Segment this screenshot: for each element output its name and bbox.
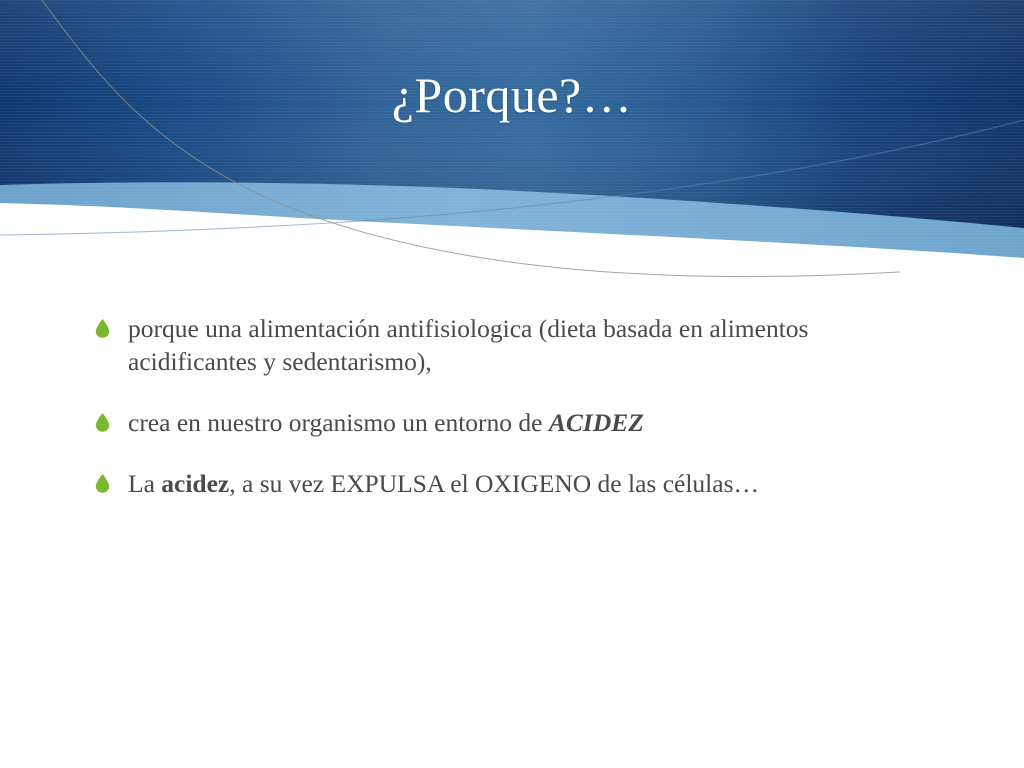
bullet-text-2-lead: crea en nuestro organismo un entorno de — [128, 408, 549, 437]
green-droplet-bullet-icon — [95, 474, 110, 493]
bullet-text-2: crea en nuestro organismo un entorno de … — [128, 406, 922, 439]
header-decoration — [0, 0, 1024, 300]
light-blue-accent-band — [0, 0, 1024, 258]
bullet-text-3-lead: La — [128, 469, 161, 498]
bullet-text-3-tail: , a su vez EXPULSA el OXIGENO de las cél… — [229, 469, 759, 498]
bullet-text-2-emphasis: ACIDEZ — [549, 408, 644, 437]
bullet-text-3-emphasis: acidez — [161, 469, 229, 498]
bullet-item-2: crea en nuestro organismo un entorno de … — [92, 406, 922, 439]
thin-sweep-arc — [42, 0, 900, 277]
green-droplet-bullet-icon — [95, 413, 110, 432]
bullet-item-1: porque una alimentación antifisiologica … — [92, 312, 922, 378]
presentation-slide: ¿Porque?… porque una alimentación antifi… — [0, 0, 1024, 768]
bullet-item-3: La acidez, a su vez EXPULSA el OXIGENO d… — [92, 467, 922, 500]
scanline-texture — [0, 0, 1024, 300]
green-droplet-bullet-icon — [95, 319, 110, 338]
thin-diagonal-highlight-line — [0, 120, 1024, 235]
slide-body-content: porque una alimentación antifisiologica … — [92, 312, 922, 500]
bullet-text-1: porque una alimentación antifisiologica … — [128, 312, 922, 378]
band-texture-mask — [0, 0, 1024, 300]
bullet-text-3: La acidez, a su vez EXPULSA el OXIGENO d… — [128, 467, 922, 500]
slide-title: ¿Porque?… — [0, 68, 1024, 123]
